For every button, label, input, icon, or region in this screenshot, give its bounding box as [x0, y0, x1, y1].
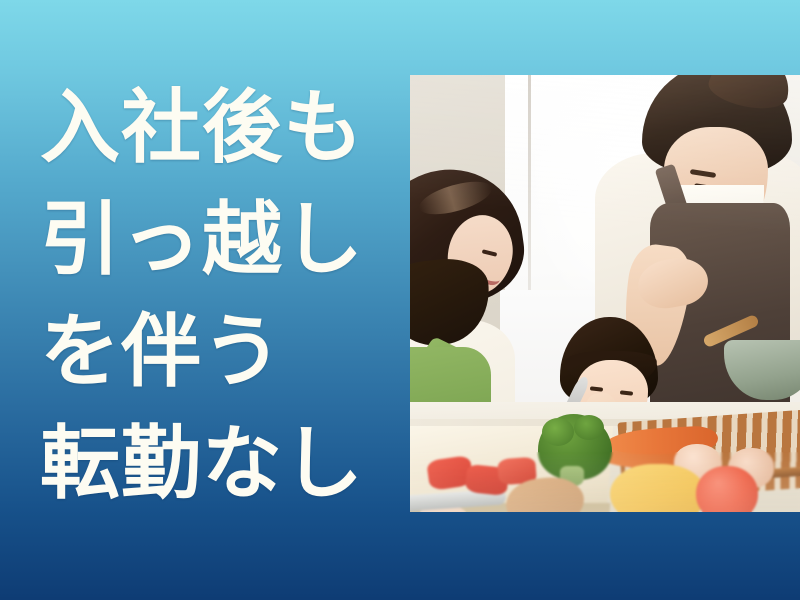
headline-line-1: 入社後も	[40, 72, 388, 184]
headline-line-4: 転勤なし	[40, 408, 388, 520]
family-cooking-photo	[410, 75, 800, 512]
headline-line-3: を伴う	[40, 296, 388, 408]
recruitment-banner: 入社後も 引っ越し を伴う 転勤なし	[0, 0, 800, 600]
headline-block: 入社後も 引っ越し を伴う 転勤なし	[40, 72, 388, 520]
headline-line-2: 引っ越し	[40, 184, 388, 296]
photo-light-haze	[410, 75, 800, 512]
